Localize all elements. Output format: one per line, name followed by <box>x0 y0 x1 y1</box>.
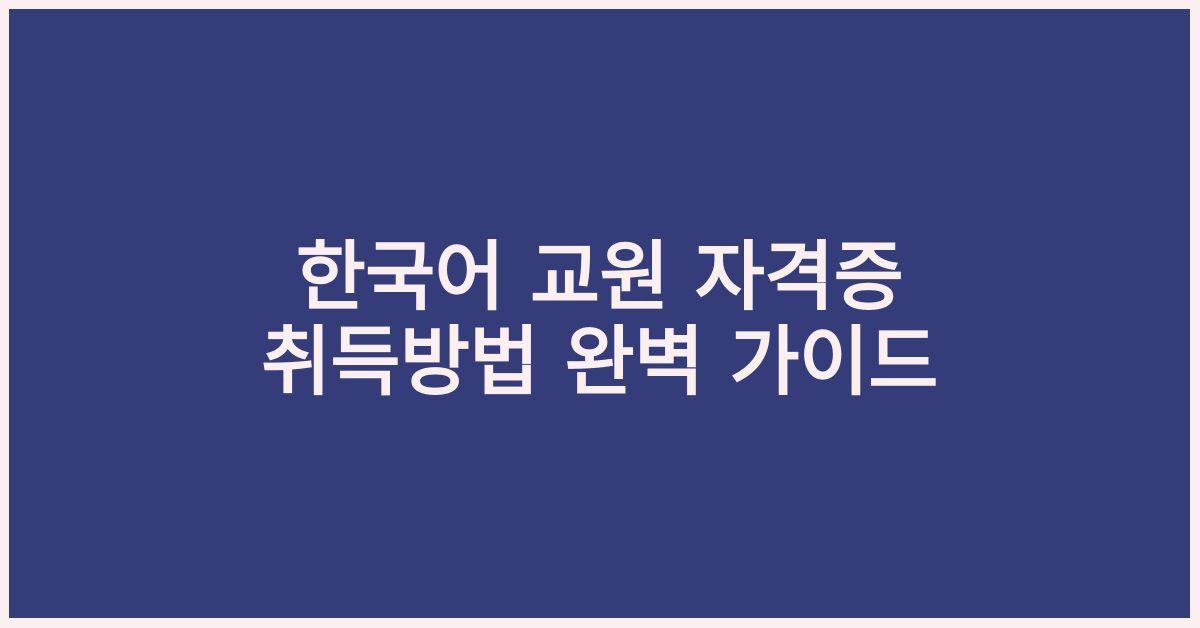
headline-line-1: 한국어 교원 자격증 <box>9 234 1190 319</box>
thumbnail-canvas: 한국어 교원 자격증 취득방법 완벽 가이드 <box>0 0 1200 628</box>
headline-line-2: 취득방법 완벽 가이드 <box>9 319 1190 404</box>
title-card: 한국어 교원 자격증 취득방법 완벽 가이드 <box>9 9 1190 618</box>
headline-block: 한국어 교원 자격증 취득방법 완벽 가이드 <box>9 234 1190 404</box>
